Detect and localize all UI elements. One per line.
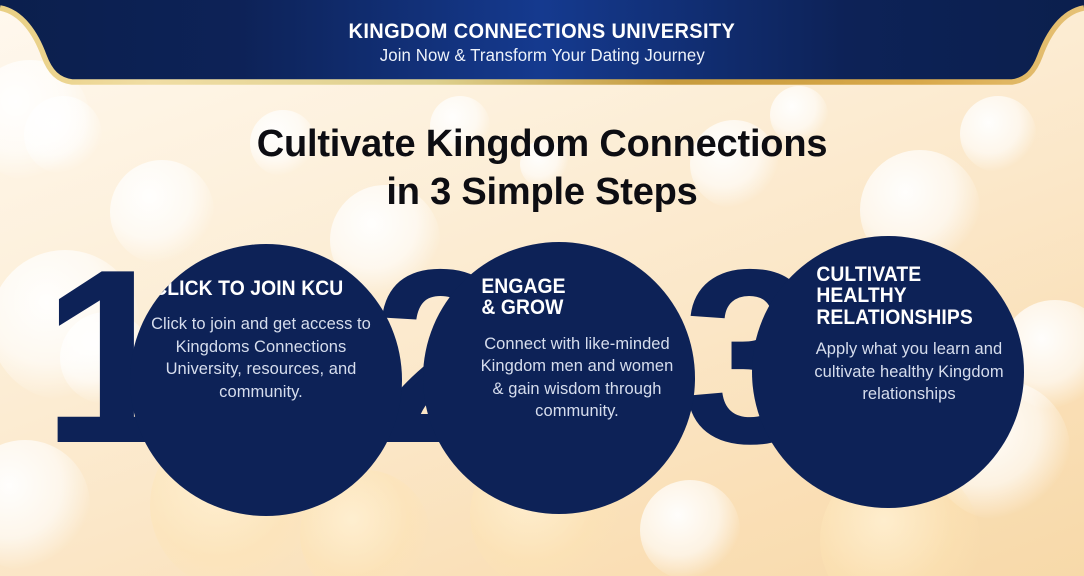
page-title-line-1: Cultivate Kingdom Connections: [0, 121, 1084, 169]
header-subtitle: Join Now & Transform Your Dating Journey: [379, 45, 704, 66]
step-heading-3: CULTIVATE HEALTHY RELATIONSHIPS: [816, 264, 1007, 328]
header-banner: KINGDOM CONNECTIONS UNIVERSITY Join Now …: [0, 0, 1084, 92]
step-heading-1: CLICK TO JOIN KCU: [151, 278, 366, 299]
step-body-2: Connect with like-minded Kingdom men and…: [473, 333, 681, 423]
step-heading-2: ENGAGE & GROW: [481, 276, 672, 319]
step-circle-2[interactable]: ENGAGE & GROW Connect with like-minded K…: [423, 242, 695, 514]
steps-section: 1 CLICK TO JOIN KCU Click to join and ge…: [0, 232, 1084, 532]
page-title-line-2: in 3 Simple Steps: [0, 169, 1084, 217]
step-circle-3[interactable]: CULTIVATE HEALTHY RELATIONSHIPS Apply wh…: [752, 236, 1024, 508]
step-body-1: Click to join and get access to Kingdoms…: [142, 313, 376, 403]
step-item-3: 3 CULTIVATE HEALTHY RELATIONSHIPS Apply …: [672, 232, 1084, 532]
header-title: KINGDOM CONNECTIONS UNIVERSITY: [349, 20, 736, 44]
page-title: Cultivate Kingdom Connections in 3 Simpl…: [0, 121, 1084, 217]
step-circle-1[interactable]: CLICK TO JOIN KCU Click to join and get …: [130, 244, 402, 516]
step-body-3: Apply what you learn and cultivate healt…: [808, 338, 1016, 405]
step-item-1: 1 CLICK TO JOIN KCU Click to join and ge…: [0, 232, 400, 532]
